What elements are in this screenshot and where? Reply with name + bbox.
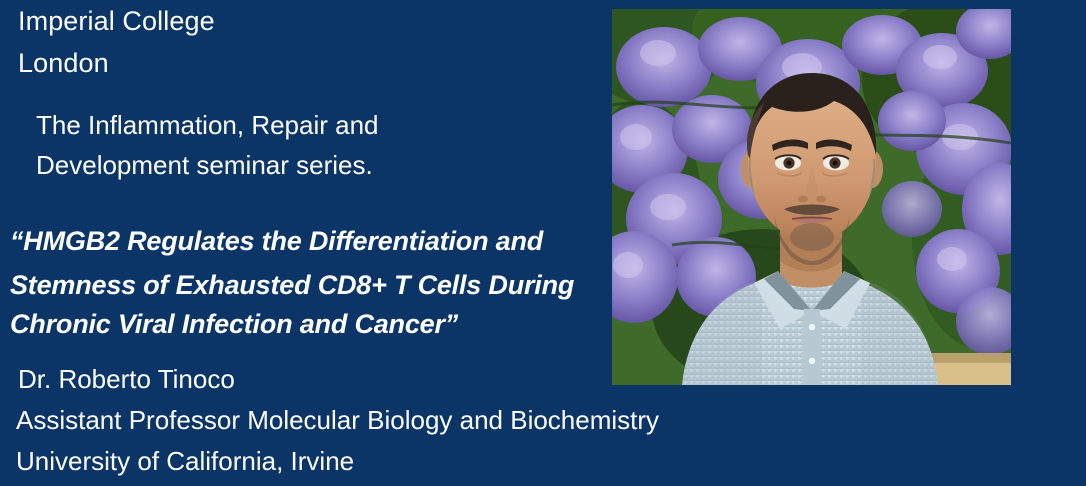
seminar-series-line-2: Development seminar series. (36, 152, 373, 178)
speaker-position: Assistant Professor Molecular Biology an… (16, 407, 659, 433)
talk-title-line-3: Chronic Viral Infection and Cancer” (10, 311, 458, 338)
text-column: Imperial College London The Inflammation… (0, 0, 615, 486)
speaker-name: Dr. Roberto Tinoco (18, 366, 235, 392)
speaker-institution: University of California, Irvine (16, 448, 354, 474)
organisation-line-1: Imperial College (18, 8, 215, 35)
seminar-series-line-1: The Inflammation, Repair and (36, 112, 379, 138)
speaker-portrait-photo (612, 9, 1011, 385)
seminar-announcement-slide: Imperial College London The Inflammation… (0, 0, 1086, 486)
talk-title-line-1: “HMGB2 Regulates the Differentiation and (10, 228, 543, 255)
portrait-illustration (612, 9, 1011, 385)
organisation-line-2: London (18, 50, 109, 77)
talk-title-line-2: Stemness of Exhausted CD8+ T Cells Durin… (10, 272, 574, 299)
